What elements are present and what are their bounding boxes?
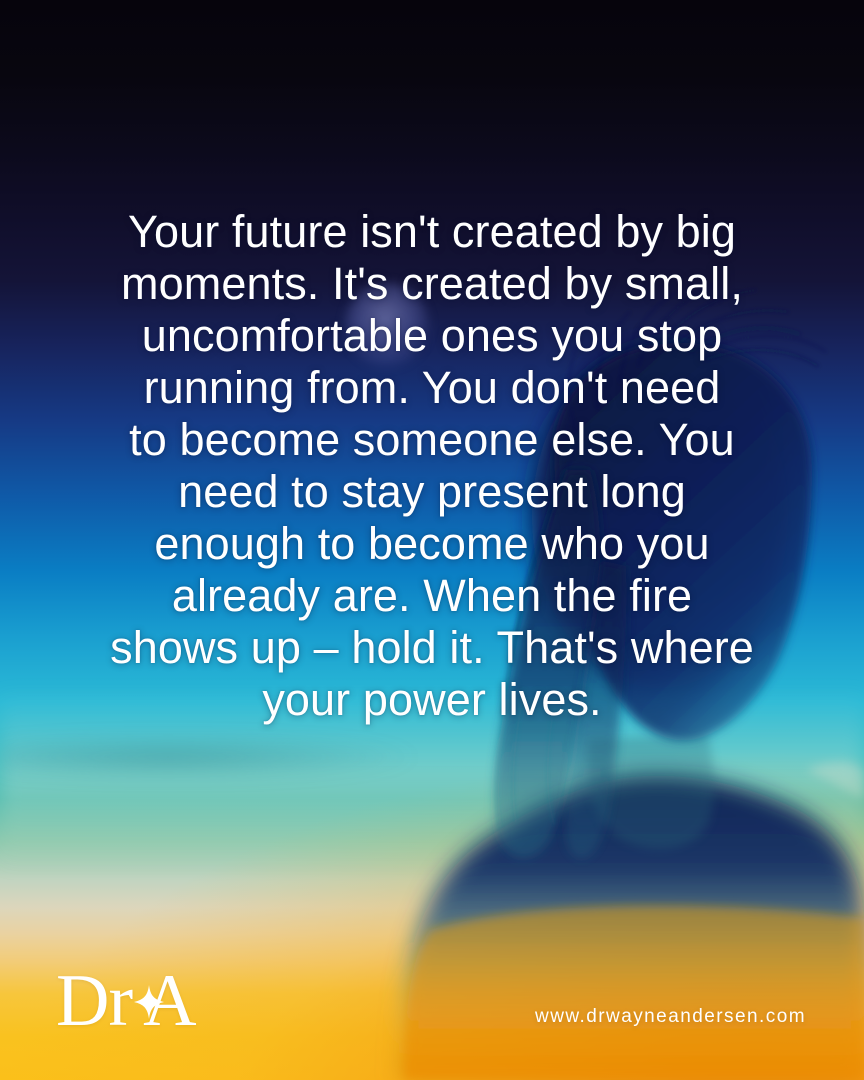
quote-text: Your future isn't created by big moments… <box>60 206 804 726</box>
logo-a-group: A <box>143 971 196 1032</box>
brand-logo[interactable]: Dr A <box>56 966 197 1032</box>
quote-card-canvas: Your future isn't created by big moments… <box>0 0 864 1080</box>
logo-dr-text: Dr <box>56 971 132 1032</box>
logo-a-text: A <box>143 971 196 1032</box>
website-url[interactable]: www.drwayneandersen.com <box>535 1006 806 1028</box>
